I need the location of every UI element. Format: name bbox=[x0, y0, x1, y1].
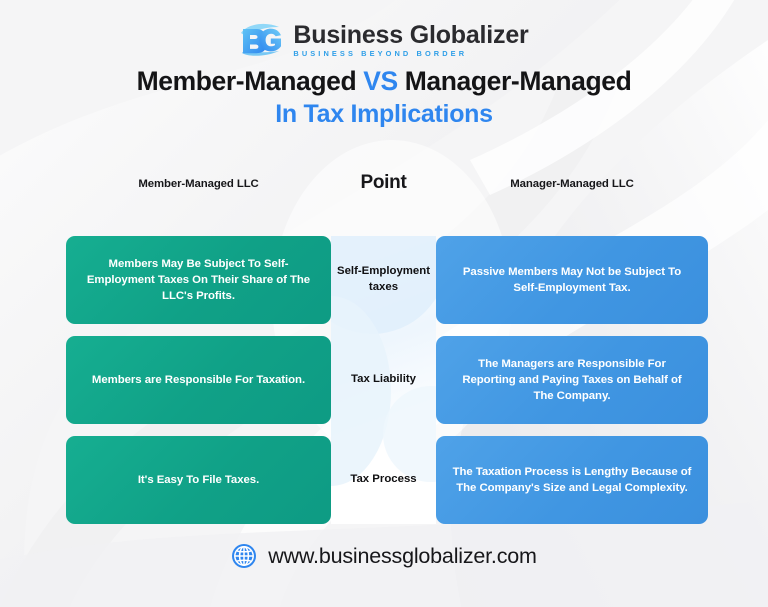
footer: www.businessglobalizer.com bbox=[0, 536, 768, 576]
headline-part-a: Member-Managed bbox=[137, 66, 364, 96]
cell-member-managed: It's Easy To File Taxes. bbox=[66, 436, 331, 524]
cell-text: The Taxation Process is Lengthy Because … bbox=[452, 464, 692, 496]
cell-text: Self-Employment taxes bbox=[336, 264, 431, 295]
column-header-point: Point bbox=[331, 172, 436, 194]
cell-text: Tax Process bbox=[350, 472, 416, 488]
headline-line-2: In Tax Implications bbox=[0, 100, 768, 130]
cell-text: Passive Members May Not be Subject To Se… bbox=[452, 264, 692, 296]
cell-point: Self-Employment taxes bbox=[331, 236, 436, 324]
cell-manager-managed: The Managers are Responsible For Reporti… bbox=[436, 336, 708, 424]
table-row: Members May Be Subject To Self-Employmen… bbox=[0, 236, 768, 324]
table-column-headers: Member-Managed LLC Point Manager-Managed… bbox=[0, 178, 768, 206]
cell-member-managed: Members May Be Subject To Self-Employmen… bbox=[66, 236, 331, 324]
page-title: Member-Managed VS Manager-Managed In Tax… bbox=[0, 66, 768, 130]
cell-text: Members May Be Subject To Self-Employmen… bbox=[82, 256, 315, 305]
column-header-member-managed: Member-Managed LLC bbox=[66, 178, 331, 190]
cell-text: The Managers are Responsible For Reporti… bbox=[452, 356, 692, 405]
comparison-table: Member-Managed LLC Point Manager-Managed… bbox=[0, 178, 768, 507]
headline-part-b: Manager-Managed bbox=[398, 66, 632, 96]
cell-text: It's Easy To File Taxes. bbox=[138, 472, 259, 488]
cell-point: Tax Liability bbox=[331, 336, 436, 424]
brand-logo: Business Globalizer BUSINESS BEYOND BORD… bbox=[0, 16, 768, 64]
brand-tagline: BUSINESS BEYOND BORDER bbox=[293, 50, 528, 57]
headline-vs: VS bbox=[363, 66, 398, 96]
cell-text: Tax Liability bbox=[351, 372, 416, 388]
cell-point: Tax Process bbox=[331, 436, 436, 524]
cell-manager-managed: Passive Members May Not be Subject To Se… bbox=[436, 236, 708, 324]
website-url[interactable]: www.businessglobalizer.com bbox=[268, 544, 536, 569]
brand-name: Business Globalizer bbox=[293, 23, 528, 49]
cell-manager-managed: The Taxation Process is Lengthy Because … bbox=[436, 436, 708, 524]
headline-line-1: Member-Managed VS Manager-Managed bbox=[0, 66, 768, 97]
bg-monogram-icon bbox=[239, 23, 283, 57]
table-row: It's Easy To File Taxes. Tax Process The… bbox=[0, 436, 768, 524]
column-header-manager-managed: Manager-Managed LLC bbox=[436, 178, 708, 190]
cell-member-managed: Members are Responsible For Taxation. bbox=[66, 336, 331, 424]
table-row: Members are Responsible For Taxation. Ta… bbox=[0, 336, 768, 424]
cell-text: Members are Responsible For Taxation. bbox=[92, 372, 305, 388]
globe-icon bbox=[231, 543, 257, 569]
table-body: Members May Be Subject To Self-Employmen… bbox=[0, 207, 768, 507]
